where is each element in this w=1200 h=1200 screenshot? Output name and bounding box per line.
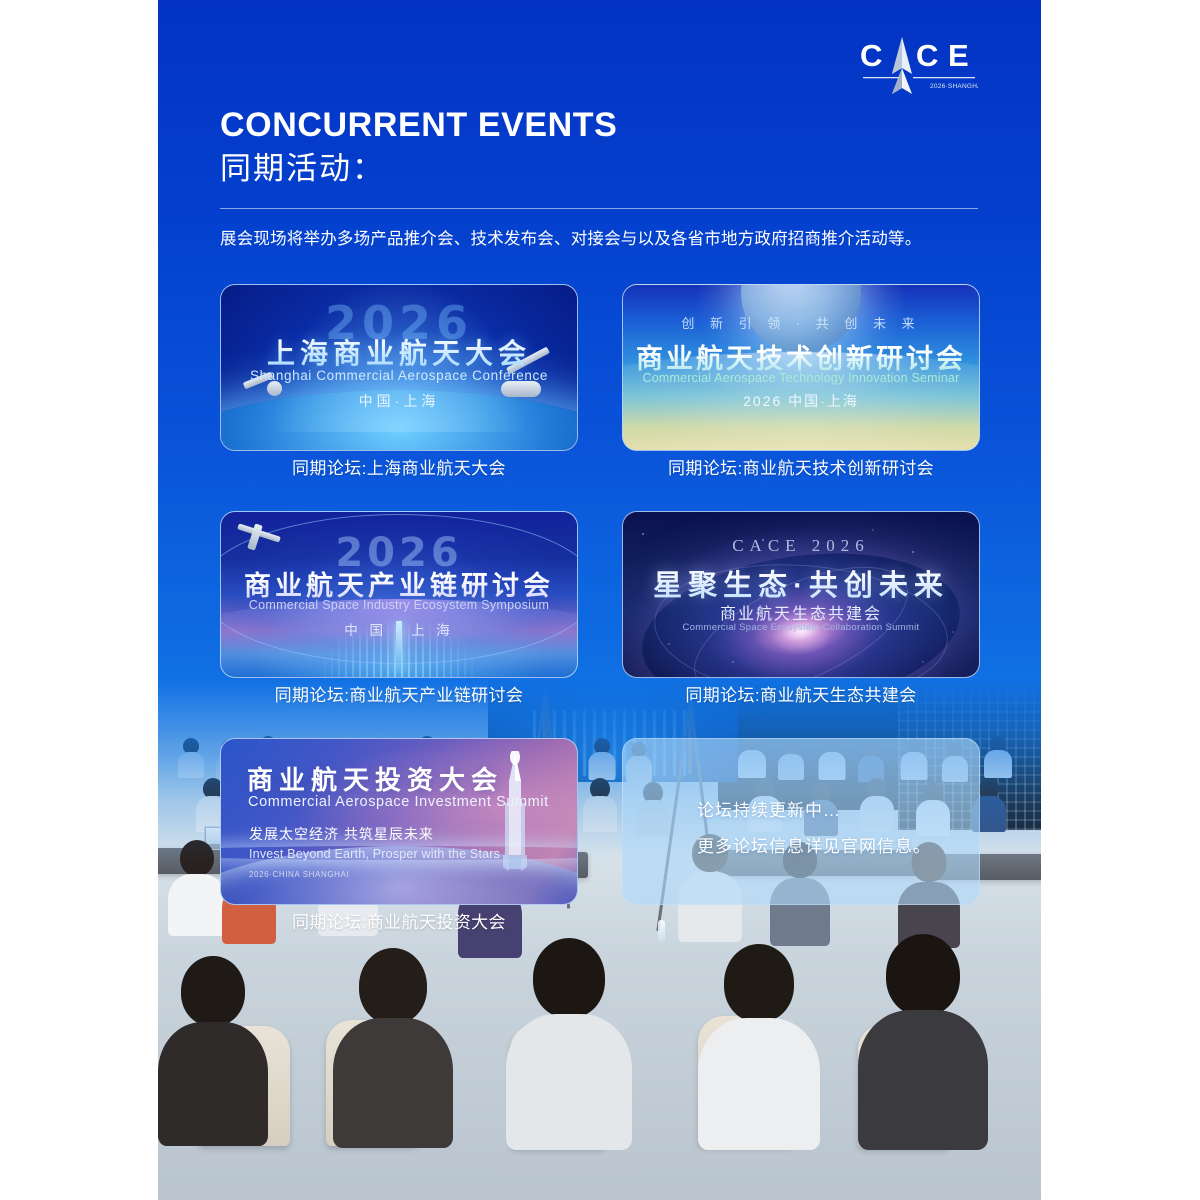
event-poster-4[interactable]: CACE 2026 星聚生态·共创未来 商业航天生态共建会 Commercial… (622, 511, 980, 678)
event-card-industry-ecosystem-symposium[interactable]: 2026 商业航天产业链研讨会 Commercial Space Industr… (220, 511, 578, 707)
page-title-block: CONCURRENT EVENTS 同期活动： (220, 105, 617, 190)
photo-audience-member (158, 956, 268, 1146)
poster-title-en-5: Commercial Aerospace Investment Summit (248, 794, 549, 810)
poster-location-3: 中 国 · 上 海 (221, 619, 577, 639)
poster-title-cn-5: 商业航天投资大会 (247, 760, 503, 797)
poster-title-cn-1: 上海商业航天大会 (221, 332, 577, 372)
header-divider (220, 208, 978, 209)
photo-audience-member (168, 840, 226, 936)
poster-subtitle-cn-4: 商业航天生态共建会 (623, 600, 979, 624)
photo-audience-member (858, 934, 988, 1150)
event-card-placeholder: 论坛持续更新中… 更多论坛信息详见官网信息。 (622, 738, 980, 934)
poster-tagline-2: 创 新 引 领 · 共 创 未 来 (623, 313, 979, 332)
event-caption-2: 同期论坛:商业航天技术创新研讨会 (622, 458, 980, 480)
placeholder-line-2: 更多论坛信息详见官网信息。 (697, 832, 931, 857)
event-poster-5[interactable]: 商业航天投资大会 Commercial Aerospace Investment… (220, 738, 578, 905)
event-poster-3[interactable]: 2026 商业航天产业链研讨会 Commercial Space Industr… (220, 511, 578, 678)
placeholder-panel: 论坛持续更新中… 更多论坛信息详见官网信息。 (622, 738, 980, 905)
photo-audience-member (506, 938, 632, 1150)
event-poster-1[interactable]: 2026 上海商业航天大会 Shanghai Commercial Aerosp… (220, 284, 578, 451)
poster-title-en-3: Commercial Space Industry Ecosystem Symp… (221, 598, 577, 612)
event-poster-2[interactable]: 创 新 引 领 · 共 创 未 来 商业航天技术创新研讨会 Commercial… (622, 284, 980, 451)
event-card-ecosystem-collaboration-summit[interactable]: CACE 2026 星聚生态·共创未来 商业航天生态共建会 Commercial… (622, 511, 980, 707)
photo-audience-member (333, 948, 453, 1148)
page-title-cn: 同期活动： (220, 148, 617, 190)
poster-title-en-2: Commercial Aerospace Technology Innovati… (623, 371, 979, 385)
poster-title-en-1: Shanghai Commercial Aerospace Conference (221, 368, 577, 383)
poster-year-line-5: 2026·CHINA SHANGHAI (249, 870, 349, 879)
event-card-investment-summit[interactable]: 商业航天投资大会 Commercial Aerospace Investment… (220, 738, 578, 934)
poster-slogan-en-5: Invest Beyond Earth, Prosper with the St… (249, 847, 500, 861)
event-caption-4: 同期论坛:商业航天生态共建会 (622, 685, 980, 707)
event-caption-5: 同期论坛:商业航天投资大会 (220, 912, 578, 934)
page-title-en: CONCURRENT EVENTS (220, 105, 617, 145)
cace-logo: C C E 2026·SHANGHAI (860, 35, 978, 97)
poster-title-en-4: Commercial Space Ecosystem Collaboration… (623, 622, 979, 633)
poster-location-2: 2026 中国·上海 (623, 391, 979, 411)
poster-location-1: 中国·上海 (221, 391, 577, 411)
photo-audience-member (698, 944, 820, 1150)
svg-text:C: C (860, 38, 882, 73)
events-grid: 2026 上海商业航天大会 Shanghai Commercial Aerosp… (220, 284, 980, 934)
photo-audience-member (178, 738, 204, 778)
poster-page: 讲 话 加快培育商业航天等新增长引擎 打造国际一流航天高地 携手共赢 (158, 0, 1041, 1200)
photo-audience-member (984, 736, 1012, 778)
poster-tagline-4: CACE 2026 (623, 536, 979, 556)
svg-text:C: C (916, 38, 938, 73)
intro-paragraph: 展会现场将举办多场产品推介会、技术发布会、对接会与以及各省市地方政府招商推介活动… (220, 226, 1010, 252)
svg-text:E: E (948, 38, 969, 73)
poster-title-cn-4: 星聚生态·共创未来 (623, 562, 979, 604)
event-caption-1: 同期论坛:上海商业航天大会 (220, 458, 578, 480)
placeholder-line-1: 论坛持续更新中… (697, 796, 841, 821)
event-card-tech-innovation-seminar[interactable]: 创 新 引 领 · 共 创 未 来 商业航天技术创新研讨会 Commercial… (622, 284, 980, 480)
svg-text:2026·SHANGHAI: 2026·SHANGHAI (930, 83, 978, 90)
poster-slogan-cn-5: 发展太空经济 共筑星辰未来 (249, 824, 434, 844)
event-card-shanghai-conference[interactable]: 2026 上海商业航天大会 Shanghai Commercial Aerosp… (220, 284, 578, 480)
event-caption-3: 同期论坛:商业航天产业链研讨会 (220, 685, 578, 707)
